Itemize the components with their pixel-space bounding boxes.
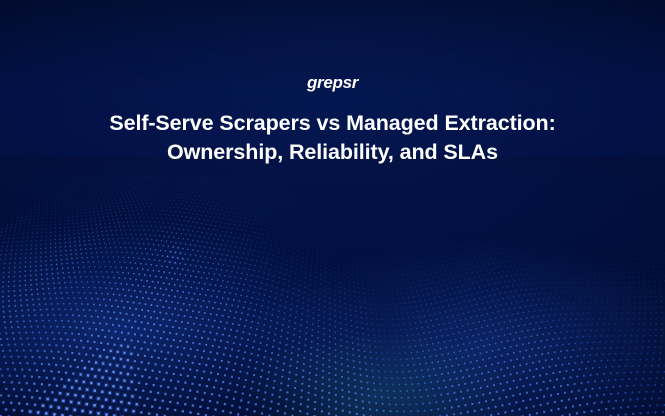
page-title-line-2: Ownership, Reliability, and SLAs [83, 138, 583, 167]
page-title-line-1: Self-Serve Scrapers vs Managed Extractio… [83, 109, 583, 138]
page-title: Self-Serve Scrapers vs Managed Extractio… [83, 109, 583, 167]
banner-content: grepsr Self-Serve Scrapers vs Managed Ex… [0, 0, 665, 416]
grepsr-logo[interactable]: grepsr [307, 74, 358, 91]
article-hero-banner: grepsr Self-Serve Scrapers vs Managed Ex… [0, 0, 665, 416]
